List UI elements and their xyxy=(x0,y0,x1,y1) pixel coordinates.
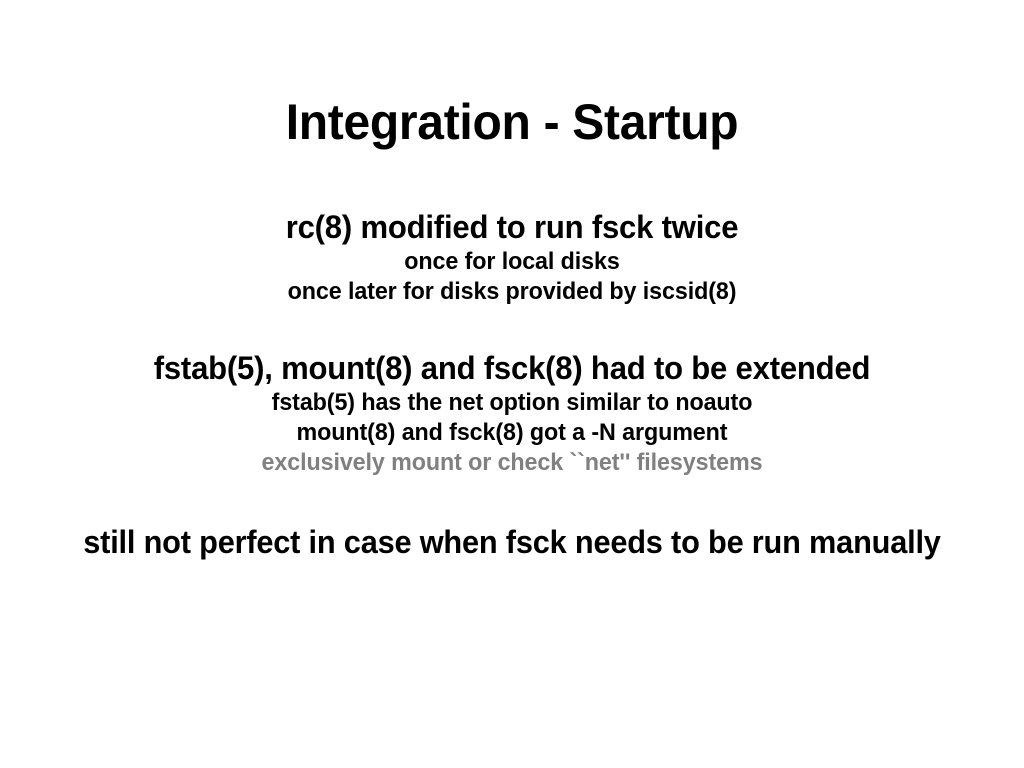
block-1-heading: rc(8) modified to run fsck twice xyxy=(15,208,1008,247)
content-block-3: still not perfect in case when fsck need… xyxy=(0,522,1024,562)
block-1-subline-1: once for local disks xyxy=(15,247,1008,277)
block-2-subline-2: mount(8) and fsck(8) got a -N argument xyxy=(15,418,1008,448)
content-block-2: fstab(5), mount(8) and fsck(8) had to be… xyxy=(0,349,1024,478)
closing-line: still not perfect in case when fsck need… xyxy=(20,522,1003,562)
block-1-subline-2: once later for disks provided by iscsid(… xyxy=(15,277,1008,307)
block-spacer-1 xyxy=(0,307,1024,349)
block-2-subline-1: fstab(5) has the net option similar to n… xyxy=(15,388,1008,418)
block-2-subline-3: exclusively mount or check ``net'' files… xyxy=(15,448,1008,478)
presentation-slide: Integration - Startup rc(8) modified to … xyxy=(0,0,1024,768)
slide-title: Integration - Startup xyxy=(20,93,1003,151)
slide-body: rc(8) modified to run fsck twice once fo… xyxy=(0,208,1024,562)
block-spacer-2 xyxy=(0,478,1024,522)
block-2-heading: fstab(5), mount(8) and fsck(8) had to be… xyxy=(15,349,1008,388)
content-block-1: rc(8) modified to run fsck twice once fo… xyxy=(0,208,1024,307)
